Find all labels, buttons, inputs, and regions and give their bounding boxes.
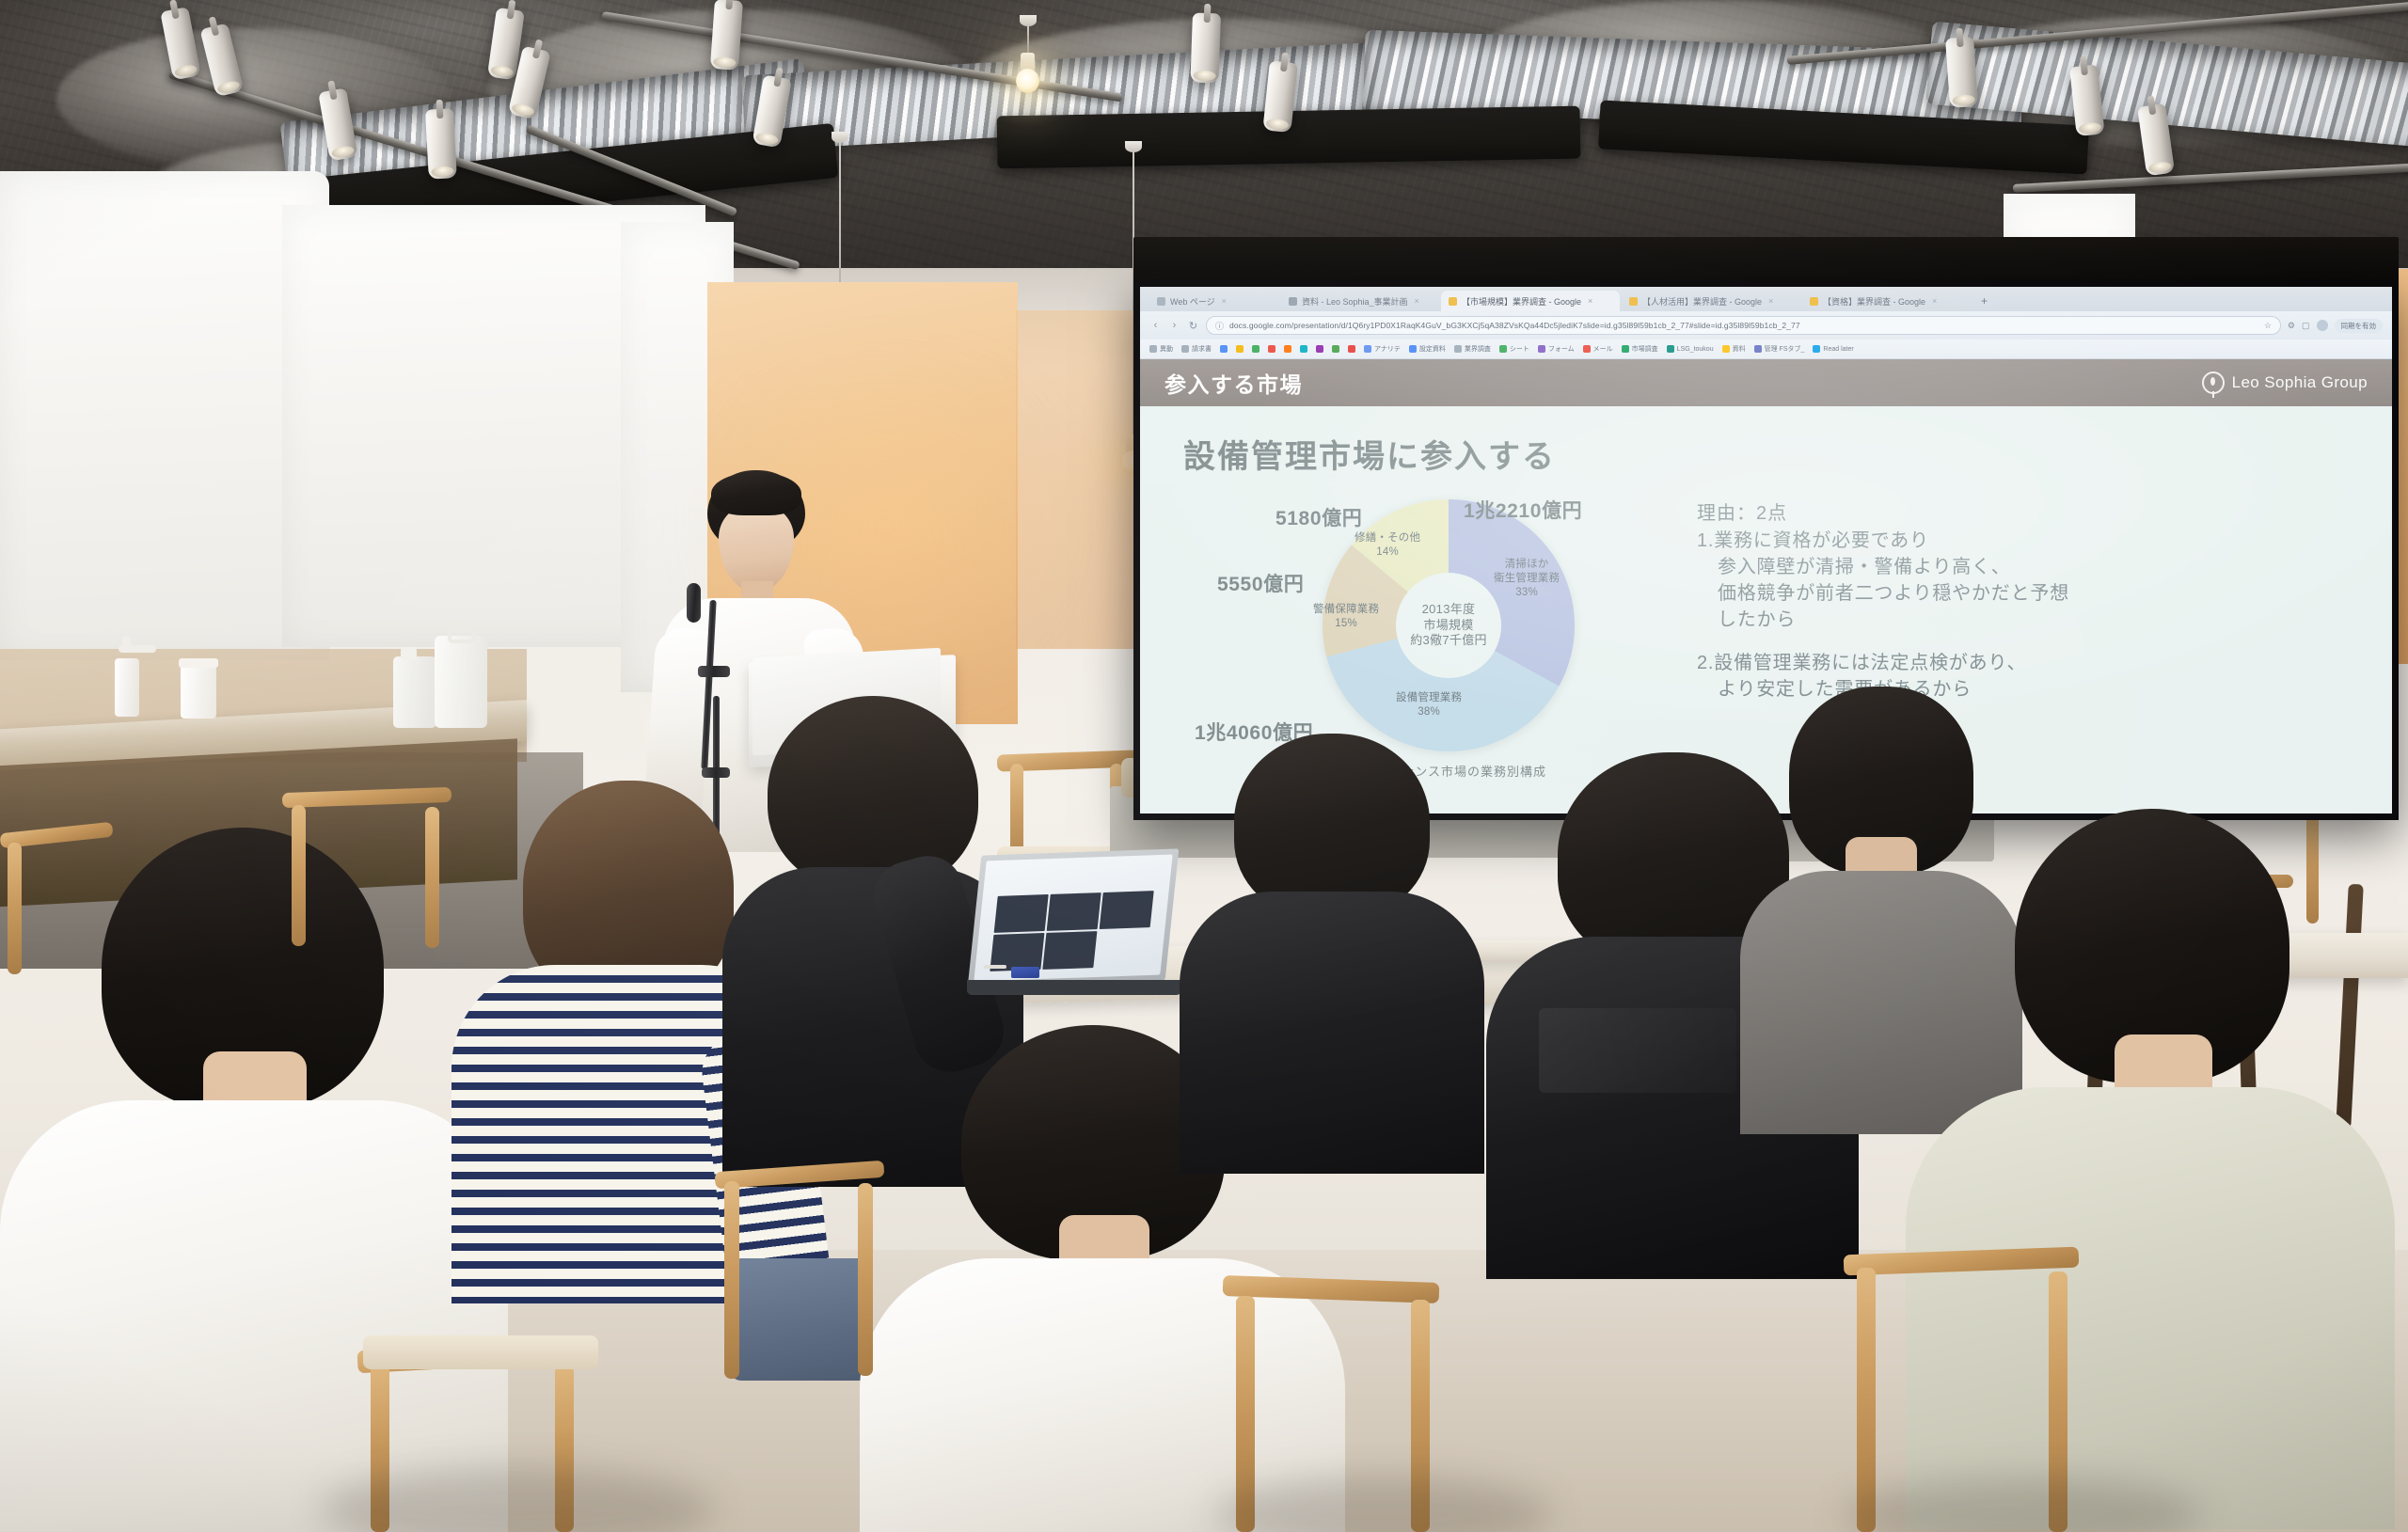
tab-close-icon[interactable]: × (1415, 296, 1419, 306)
slice-percent: 38% (1396, 705, 1462, 719)
sweatshirt-print (1539, 1008, 1736, 1093)
bookmark-favicon (1252, 345, 1259, 353)
tab-close-icon[interactable]: × (1588, 296, 1592, 306)
canister-lid (179, 658, 218, 668)
bookmark-favicon (1181, 345, 1189, 353)
bookmark-favicon (1813, 345, 1820, 353)
wooden-chair-left-back-leg (425, 807, 439, 948)
bookmark-favicon (1454, 345, 1462, 353)
bookmark-label: 設定資料 (1419, 344, 1446, 354)
tab-label: 【資格】業界調査 - Google (1823, 295, 1925, 308)
bookmark-favicon (1722, 345, 1730, 353)
browser-tab[interactable]: 【資格】業界調査 - Google × (1802, 291, 1973, 311)
wooden-chair-far-left-leg (8, 843, 22, 974)
address-bar[interactable]: ⓘ docs.google.com/presentation/d/1Q6ry1P… (1206, 316, 2281, 335)
tab-favicon (1449, 297, 1457, 306)
donut-center-label: 2013年度 市場規模 約3儆7千億円 (1396, 573, 1501, 678)
bookmark-favicon (1236, 345, 1244, 353)
center-line-3: 約3儆7千億円 (1410, 633, 1487, 649)
reason-1-line-4: したから (1697, 607, 2354, 633)
bookmark-label: フォーム (1548, 344, 1575, 354)
browser-tabstrip: Web ページ × 資料 - Leo Sophia_事業計画 × 【市場規模】業… (1140, 287, 2392, 311)
tab-favicon (1810, 297, 1818, 306)
desk-item-pen (984, 965, 1006, 969)
bookmark-favicon (1409, 345, 1417, 353)
jug-cap (401, 647, 417, 660)
bookmark-favicon (1499, 345, 1507, 353)
bookmark-favicon (1364, 345, 1371, 353)
callout-security: 5550億円 (1217, 569, 1304, 597)
brand-name: Leo Sophia Group (2232, 373, 2368, 392)
tab-favicon (1289, 297, 1297, 306)
presenter-face (719, 504, 794, 592)
tab-favicon (1157, 297, 1165, 306)
bookmark-item[interactable]: アナリテ (1364, 344, 1401, 354)
leo-sophia-logo-icon (2202, 371, 2225, 394)
bookmark-item[interactable]: 請求書 (1181, 344, 1212, 354)
slide-thumbnail (1042, 931, 1097, 970)
mic-clamp (698, 666, 730, 677)
presentation-room-photo: Web ページ × 資料 - Leo Sophia_事業計画 × 【市場規模】業… (0, 0, 2408, 1532)
bookmark-item[interactable]: フォーム (1538, 344, 1575, 354)
brand-lockup: Leo Sophia Group (2202, 371, 2368, 394)
slice-label-cleaning: 清掃ほか 衛生管理業務 33% (1494, 558, 1560, 600)
wooden-chair-mid-leg (858, 1183, 873, 1376)
bookmark-item[interactable]: 設定資料 (1409, 344, 1446, 354)
white-wall-left (0, 171, 329, 660)
center-line-1: 2013年度 (1422, 602, 1476, 618)
bookmark-item[interactable] (1220, 345, 1228, 353)
browser-tab[interactable]: Web ページ × (1149, 291, 1279, 311)
jug-handle (448, 628, 476, 643)
slice-label-facility: 設備管理業務 38% (1396, 691, 1462, 719)
slice-name-line1: 警備保障業務 (1313, 603, 1379, 617)
bookmark-item[interactable] (1348, 345, 1355, 353)
track-spotlight (425, 108, 457, 179)
track-spotlight (1945, 37, 1978, 108)
bookmark-favicon (1268, 345, 1275, 353)
slice-label-repair: 修繕・その他 14% (1354, 531, 1420, 560)
bookmark-favicon (1667, 345, 1674, 353)
bookmark-item[interactable]: 異動 (1149, 344, 1173, 354)
bookmark-item[interactable] (1268, 345, 1275, 353)
reason-item-1: 1.業務に資格が必要であり 参入障壁が清掃・警備より高く、 価格競争が前者二つよ… (1697, 528, 2354, 633)
audience-sage-shirt (1906, 1087, 2395, 1529)
tab-close-icon[interactable]: × (1768, 296, 1773, 306)
refill-jug (393, 656, 436, 728)
browser-tab[interactable]: 【人材活用】業界調査 - Google × (1622, 291, 1800, 311)
storage-canister (181, 664, 216, 719)
slide-thumbnail (1100, 891, 1154, 929)
slide-title: 設備管理市場に参入する (1183, 431, 2354, 477)
bookmark-favicon (1284, 345, 1291, 353)
audience-shirt (0, 1100, 508, 1532)
bookmark-label: Read later (1823, 346, 1853, 353)
bookmark-item[interactable]: シート (1499, 344, 1529, 354)
slice-label-security: 警備保障業務 15% (1313, 603, 1379, 631)
chart-column: 2013年度 市場規模 約3儆7千億円 清掃ほか 衛生管理業務 33% (1183, 492, 1672, 774)
bookmark-favicon (1332, 345, 1339, 353)
slide-thumbnail (993, 894, 1048, 933)
callout-cleaning: 1兆2210億円 (1464, 496, 1582, 524)
slice-name-line1: 修繕・その他 (1354, 531, 1420, 545)
tab-close-icon[interactable]: × (1222, 296, 1227, 306)
bookmark-favicon (1220, 345, 1228, 353)
bookmark-item[interactable]: Read later (1813, 345, 1853, 353)
bookmark-item[interactable] (1300, 345, 1307, 353)
bookmark-favicon (1583, 345, 1591, 353)
slice-name-line1: 清掃ほか (1494, 558, 1560, 572)
slice-percent: 14% (1354, 545, 1420, 560)
browser-window: Web ページ × 資料 - Leo Sophia_事業計画 × 【市場規模】業… (1140, 287, 2392, 359)
slice-percent: 33% (1494, 586, 1560, 600)
wooden-chair-mid-leg (724, 1181, 739, 1379)
bookmark-label: 業界調査 (1465, 344, 1491, 354)
bookmark-item[interactable]: メール (1583, 344, 1613, 354)
presenter-fringe (711, 472, 801, 515)
back-button[interactable]: ‹ (1149, 320, 1162, 331)
bookmark-favicon (1300, 345, 1307, 353)
site-info-icon[interactable]: ⓘ (1215, 320, 1224, 332)
sync-status-badge[interactable]: 同期を有効 (2335, 319, 2384, 333)
slide-header-band: 参入する市場 Leo Sophia Group (1140, 359, 2392, 406)
browser-tab[interactable]: 資料 - Leo Sophia_事業計画 × (1281, 291, 1439, 311)
bookmark-item[interactable]: 管理 FSタブ_ (1754, 344, 1805, 354)
bookmark-label: アナリテ (1374, 344, 1401, 354)
bookmark-item[interactable]: 資料 (1722, 344, 1746, 354)
track-spotlight (1190, 12, 1221, 83)
bookmark-star-icon[interactable]: ☆ (2264, 321, 2272, 331)
center-line-2: 市場規模 (1423, 618, 1473, 634)
audience-hair (1234, 734, 1430, 918)
new-tab-button[interactable]: + (1975, 294, 1993, 308)
bookmark-label: メール (1593, 344, 1613, 354)
track-spotlight (710, 0, 743, 71)
screen-valance (1133, 237, 2399, 286)
slide-thumbnail-grid (990, 891, 1154, 971)
chair-seat-cushion (363, 1335, 598, 1369)
extensions-icon[interactable]: ⚙ (2288, 321, 2295, 331)
desk-item-blue (1011, 967, 1039, 978)
bookmark-favicon (1149, 345, 1157, 353)
bookmark-label: LSG_toukou (1677, 346, 1714, 353)
bookmark-label: シート (1510, 344, 1529, 354)
bookmark-item[interactable] (1236, 345, 1244, 353)
bookmark-item[interactable]: LSG_toukou (1667, 345, 1714, 353)
reason-1-line-1: 1.業務に資格が必要であり (1697, 530, 1929, 551)
reasons-heading: 理由：2点 (1697, 498, 2354, 525)
bookmark-item[interactable] (1252, 345, 1259, 353)
sidepanel-icon[interactable]: ▢ (2302, 321, 2310, 331)
microphone-icon (687, 583, 701, 623)
bookmark-favicon (1622, 345, 1629, 353)
bookmark-label: 資料 (1733, 344, 1746, 354)
bookmark-label: 異動 (1160, 344, 1173, 354)
bookmark-item[interactable] (1332, 345, 1339, 353)
refill-jug (435, 636, 487, 728)
bookmark-item[interactable]: 市場調査 (1622, 344, 1658, 354)
url-text: docs.google.com/presentation/d/1Q6ry1PD0… (1229, 321, 2258, 330)
slice-percent: 15% (1313, 617, 1379, 631)
bookmark-item[interactable] (1316, 345, 1323, 353)
audience-member-centre-dark (1176, 734, 1486, 1166)
audience-top (1180, 892, 1484, 1174)
bookmark-favicon (1538, 345, 1545, 353)
bookmark-favicon (1754, 345, 1762, 353)
bookmark-favicon (1316, 345, 1323, 353)
forward-button[interactable]: › (1168, 320, 1180, 331)
slice-name-line1: 設備管理業務 (1396, 691, 1462, 705)
slide-thumbnail (1047, 892, 1101, 931)
tab-close-icon[interactable]: × (1932, 296, 1937, 306)
reload-button[interactable]: ↻ (1187, 320, 1199, 332)
tab-favicon (1629, 297, 1638, 306)
browser-tab-active[interactable]: 【市場規模】業界調査 - Google × (1441, 291, 1620, 311)
tab-label: 【人材活用】業界調査 - Google (1642, 295, 1762, 308)
bookmark-label: 市場調査 (1632, 344, 1658, 354)
laptop-base (967, 980, 1181, 995)
slice-name-line2: 衛生管理業務 (1494, 572, 1560, 586)
bookmarks-bar: 異動請求書アナリテ設定資料業界調査シートフォームメール市場調査LSG_touko… (1140, 340, 2392, 359)
reason-2-line-1: 2.設備管理業務には法定点検があり、 (1697, 653, 2026, 673)
bookmark-item[interactable]: 業界調査 (1454, 344, 1491, 354)
slide-header-title: 参入する市場 (1164, 367, 1303, 399)
bookmark-label: 管理 FSタブ_ (1765, 344, 1805, 354)
browser-omnibar: ‹ › ↻ ⓘ docs.google.com/presentation/d/1… (1140, 311, 2392, 340)
bookmark-label: 請求書 (1192, 344, 1212, 354)
soap-pump-neck (122, 636, 131, 651)
bookmark-favicon (1348, 345, 1355, 353)
wooden-chair-left-back-leg (292, 805, 306, 946)
laptop-screen (974, 855, 1172, 982)
callout-repair: 5180億円 (1275, 503, 1362, 531)
pie-chart: 2013年度 市場規模 約3儆7千億円 清掃ほか 衛生管理業務 33% (1212, 492, 1644, 774)
pendant-bulb (1016, 15, 1039, 93)
soap-dispenser (115, 658, 139, 717)
audience-member-sage-shirt (1928, 809, 2370, 1532)
audience-jeans (730, 1258, 871, 1381)
bookmark-item[interactable] (1284, 345, 1291, 353)
tab-label: Web ページ (1170, 295, 1215, 308)
reason-1-line-3: 価格競争が前者二つより穏やかだと予想 (1697, 580, 2354, 607)
reason-1-line-2: 参入障壁が清掃・警備より高く、 (1697, 554, 2354, 580)
tab-label: 資料 - Leo Sophia_事業計画 (1302, 295, 1408, 308)
profile-avatar[interactable] (2317, 320, 2328, 331)
tab-label: 【市場規模】業界調査 - Google (1462, 295, 1581, 308)
